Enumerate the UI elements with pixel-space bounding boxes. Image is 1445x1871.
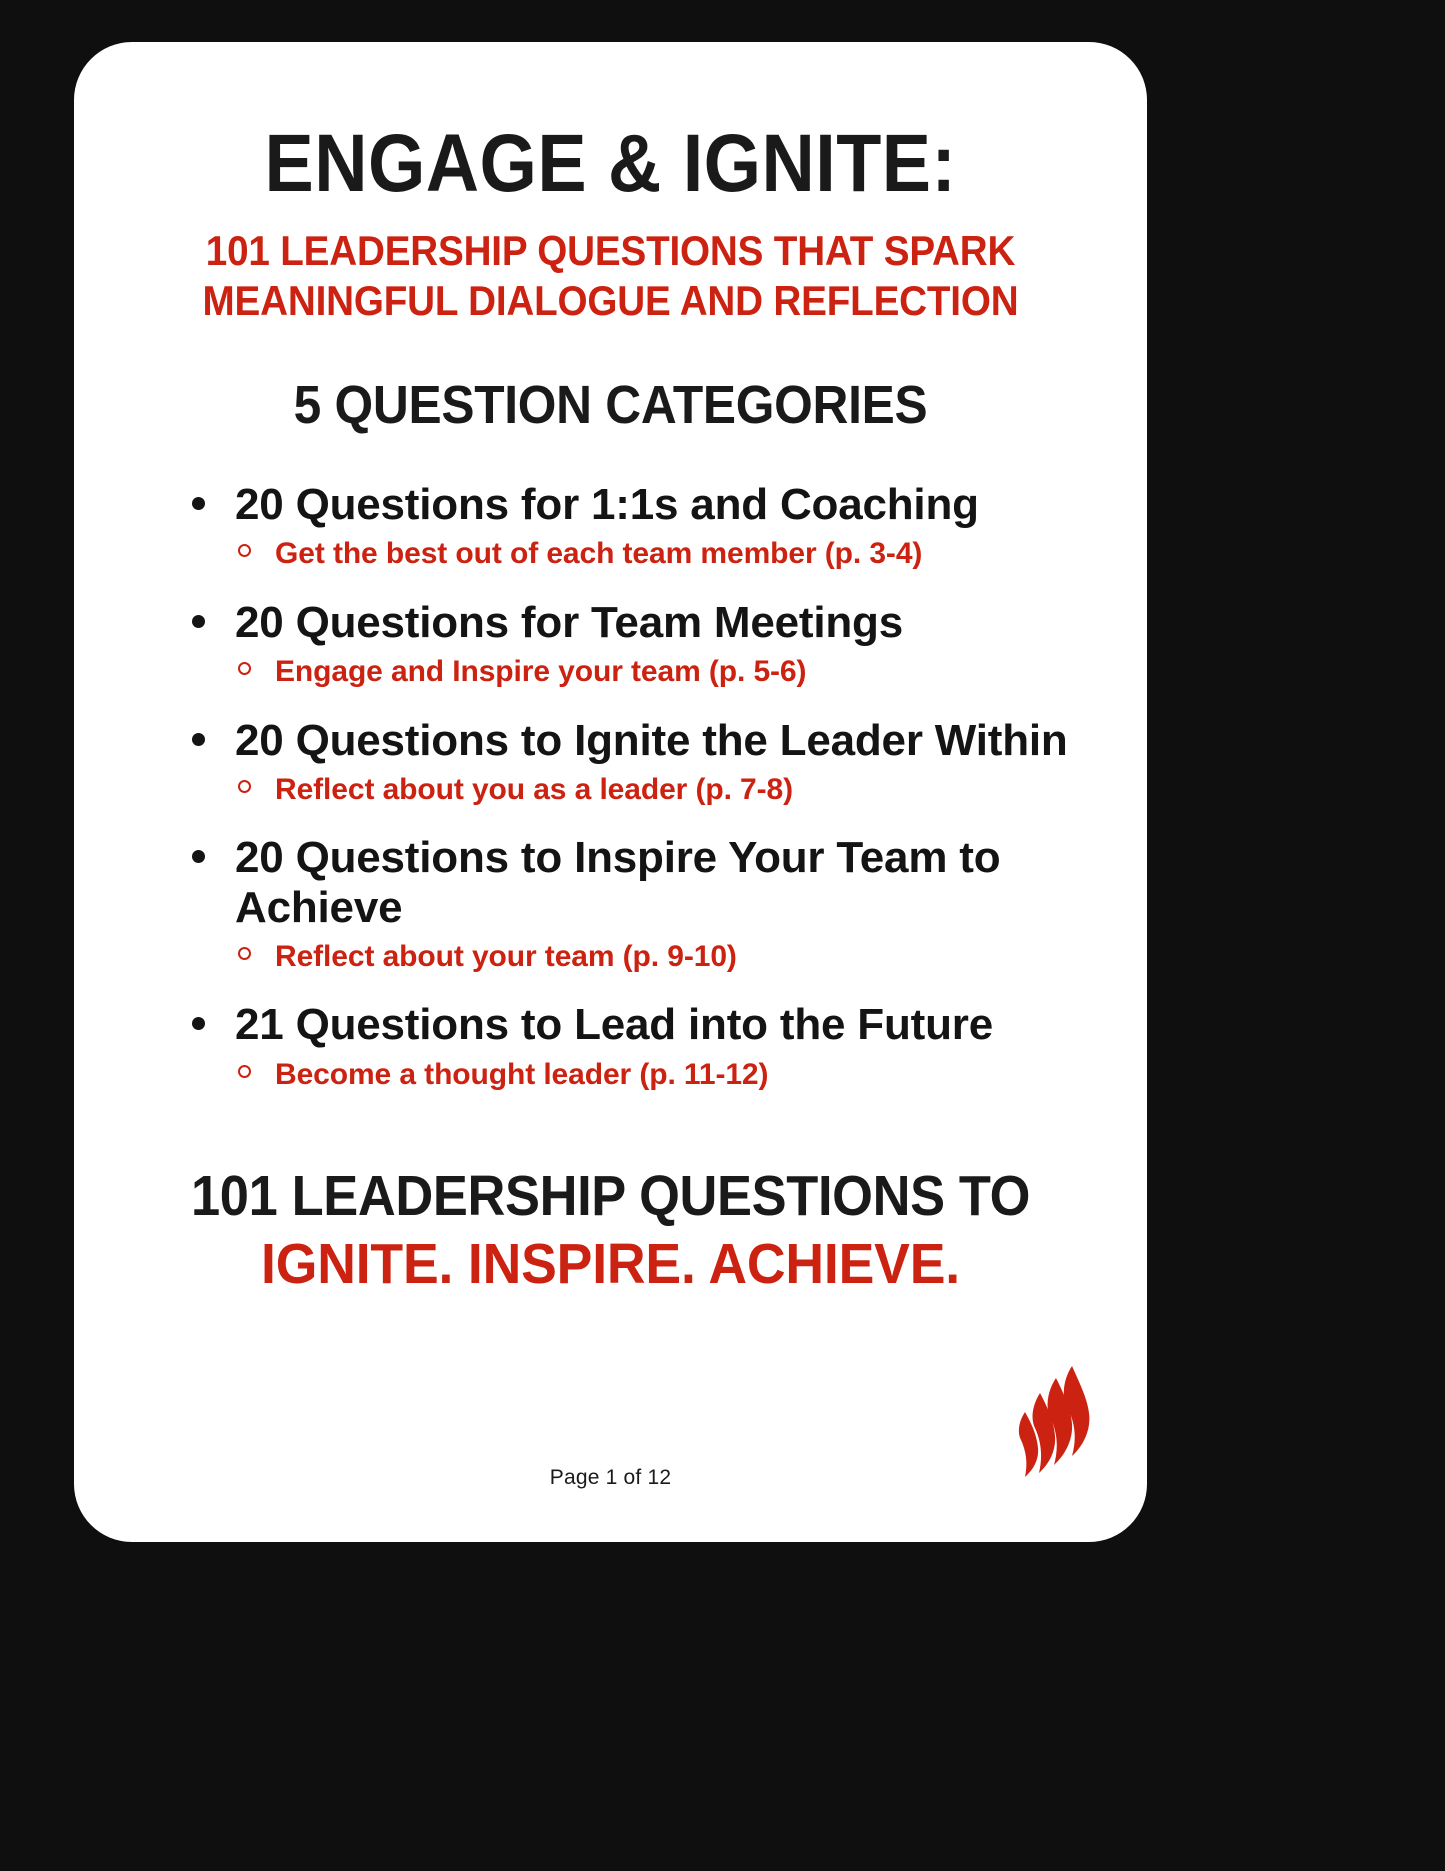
document-sheet: ENGAGE & IGNITE: 101 LEADERSHIP QUESTION… xyxy=(74,42,1147,1542)
category-main-row: 20 Questions to Ignite the Leader Within xyxy=(108,716,1113,765)
filled-bullet-icon xyxy=(192,733,205,746)
document-content: ENGAGE & IGNITE: 101 LEADERSHIP QUESTION… xyxy=(74,42,1147,1542)
closing-line-1: 101 LEADERSHIP QUESTIONS TO xyxy=(148,1166,1073,1228)
page-subtitle: 101 LEADERSHIP QUESTIONS THAT SPARK MEAN… xyxy=(148,204,1073,325)
list-item: 20 Questions for 1:1s and Coaching Get t… xyxy=(108,480,1113,572)
list-item: 21 Questions to Lead into the Future Bec… xyxy=(108,1000,1113,1092)
category-sub-row: Engage and Inspire your team (p. 5-6) xyxy=(108,655,1113,690)
filled-bullet-icon xyxy=(192,850,205,863)
category-description: Get the best out of each team member (p.… xyxy=(275,537,922,572)
hollow-bullet-icon xyxy=(238,780,251,793)
hollow-bullet-icon xyxy=(238,947,251,960)
category-title: 20 Questions to Ignite the Leader Within xyxy=(235,716,1068,765)
category-title: 20 Questions for 1:1s and Coaching xyxy=(235,480,979,529)
filled-bullet-icon xyxy=(192,497,205,510)
closing-statement: 101 LEADERSHIP QUESTIONS TO IGNITE. INSP… xyxy=(108,1118,1113,1295)
list-item: 20 Questions to Inspire Your Team to Ach… xyxy=(108,833,1113,974)
category-main-row: 20 Questions to Inspire Your Team to Ach… xyxy=(108,833,1113,932)
category-title: 20 Questions for Team Meetings xyxy=(235,598,903,647)
category-description: Engage and Inspire your team (p. 5-6) xyxy=(275,655,806,690)
closing-line-2: IGNITE. INSPIRE. ACHIEVE. xyxy=(138,1228,1083,1296)
category-sub-row: Become a thought leader (p. 11-12) xyxy=(108,1058,1113,1093)
hollow-bullet-icon xyxy=(238,1065,251,1078)
page-number-label: Page 1 of 12 xyxy=(74,1466,1147,1490)
list-item: 20 Questions to Ignite the Leader Within… xyxy=(108,716,1113,808)
hollow-bullet-icon xyxy=(238,544,251,557)
category-sub-row: Reflect about your team (p. 9-10) xyxy=(108,940,1113,975)
category-main-row: 20 Questions for Team Meetings xyxy=(108,598,1113,647)
document-page: ENGAGE & IGNITE: 101 LEADERSHIP QUESTION… xyxy=(0,0,1445,1871)
category-description: Reflect about you as a leader (p. 7-8) xyxy=(275,773,793,808)
category-title: 20 Questions to Inspire Your Team to Ach… xyxy=(235,833,1113,932)
filled-bullet-icon xyxy=(192,615,205,628)
list-item: 20 Questions for Team Meetings Engage an… xyxy=(108,598,1113,690)
hollow-bullet-icon xyxy=(238,662,251,675)
category-title: 21 Questions to Lead into the Future xyxy=(235,1000,993,1049)
section-heading: 5 QUESTION CATEGORIES xyxy=(148,325,1073,434)
filled-bullet-icon xyxy=(192,1017,205,1030)
category-sub-row: Get the best out of each team member (p.… xyxy=(108,537,1113,572)
subtitle-line-1: 101 LEADERSHIP QUESTIONS THAT SPARK xyxy=(206,227,1015,274)
page-title: ENGAGE & IGNITE: xyxy=(158,42,1063,204)
category-description: Reflect about your team (p. 9-10) xyxy=(275,940,737,975)
category-list: 20 Questions for 1:1s and Coaching Get t… xyxy=(108,434,1113,1092)
category-sub-row: Reflect about you as a leader (p. 7-8) xyxy=(108,773,1113,808)
category-main-row: 21 Questions to Lead into the Future xyxy=(108,1000,1113,1049)
subtitle-line-2: MEANINGFUL DIALOGUE AND REFLECTION xyxy=(148,276,1073,326)
flame-icon xyxy=(1009,1364,1097,1482)
category-main-row: 20 Questions for 1:1s and Coaching xyxy=(108,480,1113,529)
category-description: Become a thought leader (p. 11-12) xyxy=(275,1058,768,1093)
